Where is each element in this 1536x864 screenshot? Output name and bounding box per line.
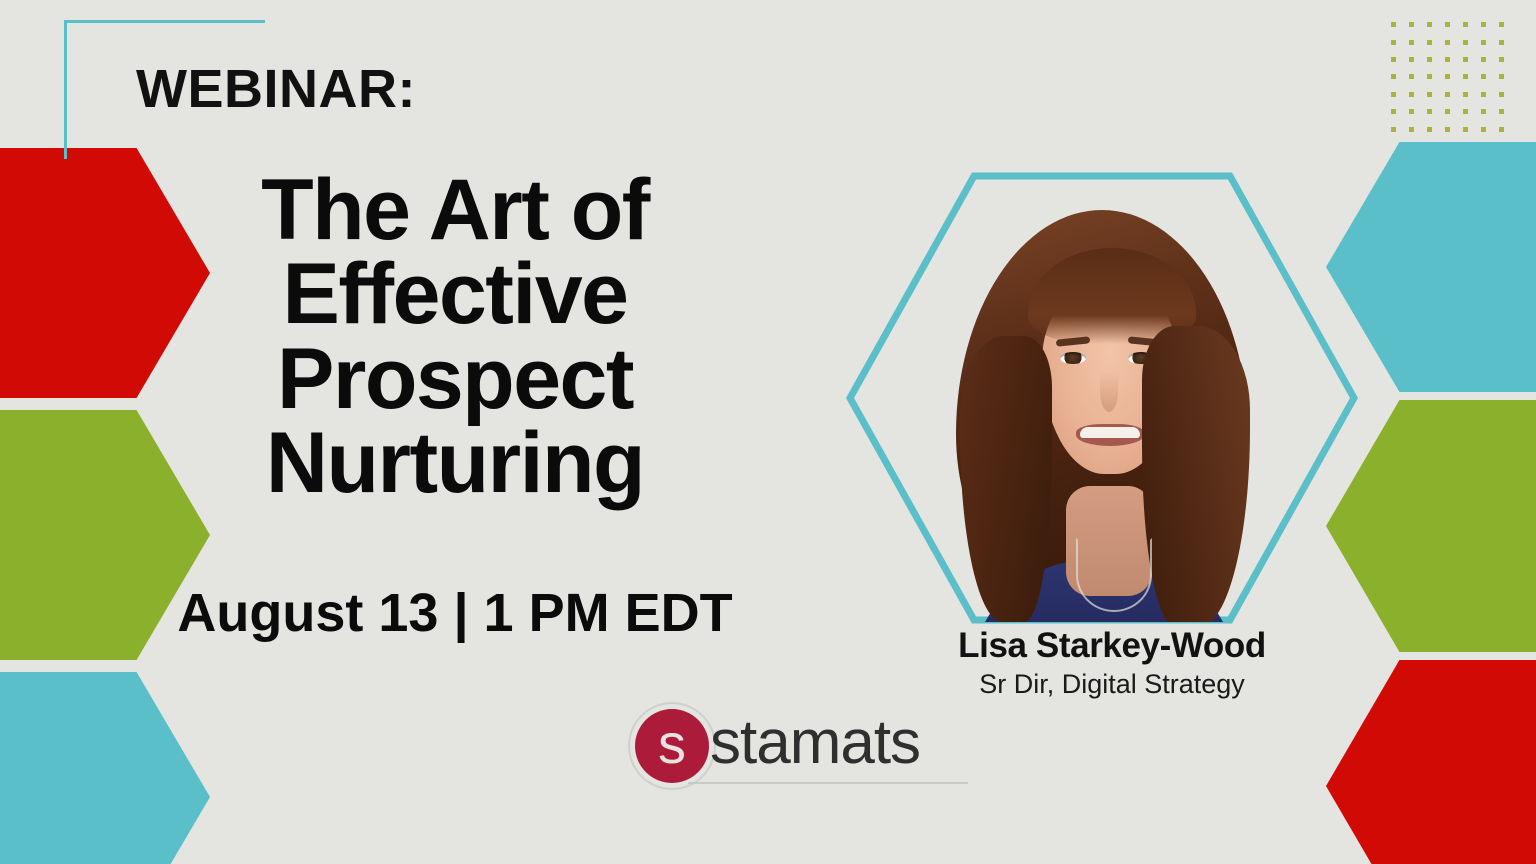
- logo-monogram: s: [628, 702, 716, 790]
- title-line-1: The Art of: [60, 168, 850, 252]
- portrait-necklace: [1076, 538, 1152, 612]
- portrait-eye-left: [1060, 352, 1086, 364]
- eyebrow-label: WEBINAR:: [136, 62, 416, 116]
- title-line-3: Prospect: [60, 337, 850, 421]
- logo-wordmark: stamats: [710, 712, 920, 780]
- decor-hexagon-right-red: [1326, 660, 1536, 864]
- page-title: The Art of Effective Prospect Nurturing: [60, 168, 850, 505]
- webinar-promo-canvas: WEBINAR: The Art of Effective Prospect N…: [0, 0, 1536, 864]
- dot-grid-decor: [1384, 16, 1510, 138]
- stamats-logo-mark-icon: s: [628, 702, 716, 790]
- webinar-datetime: August 13 | 1 PM EDT: [60, 586, 850, 640]
- title-line-4: Nurturing: [60, 421, 850, 505]
- portrait-nose: [1100, 372, 1118, 412]
- speaker-photo: [930, 186, 1274, 622]
- speaker-role: Sr Dir, Digital Strategy: [906, 670, 1318, 700]
- portrait-hair-right-strand: [1142, 326, 1250, 622]
- logo-underline-rule: [688, 782, 968, 784]
- title-line-2: Effective: [60, 252, 850, 336]
- speaker-name: Lisa Starkey-Wood: [906, 628, 1318, 665]
- portrait-hair-left-strand: [960, 336, 1052, 622]
- portrait-teeth: [1080, 427, 1140, 438]
- decor-hexagon-left-teal: [0, 672, 210, 864]
- stamats-logo: s stamats: [628, 702, 920, 790]
